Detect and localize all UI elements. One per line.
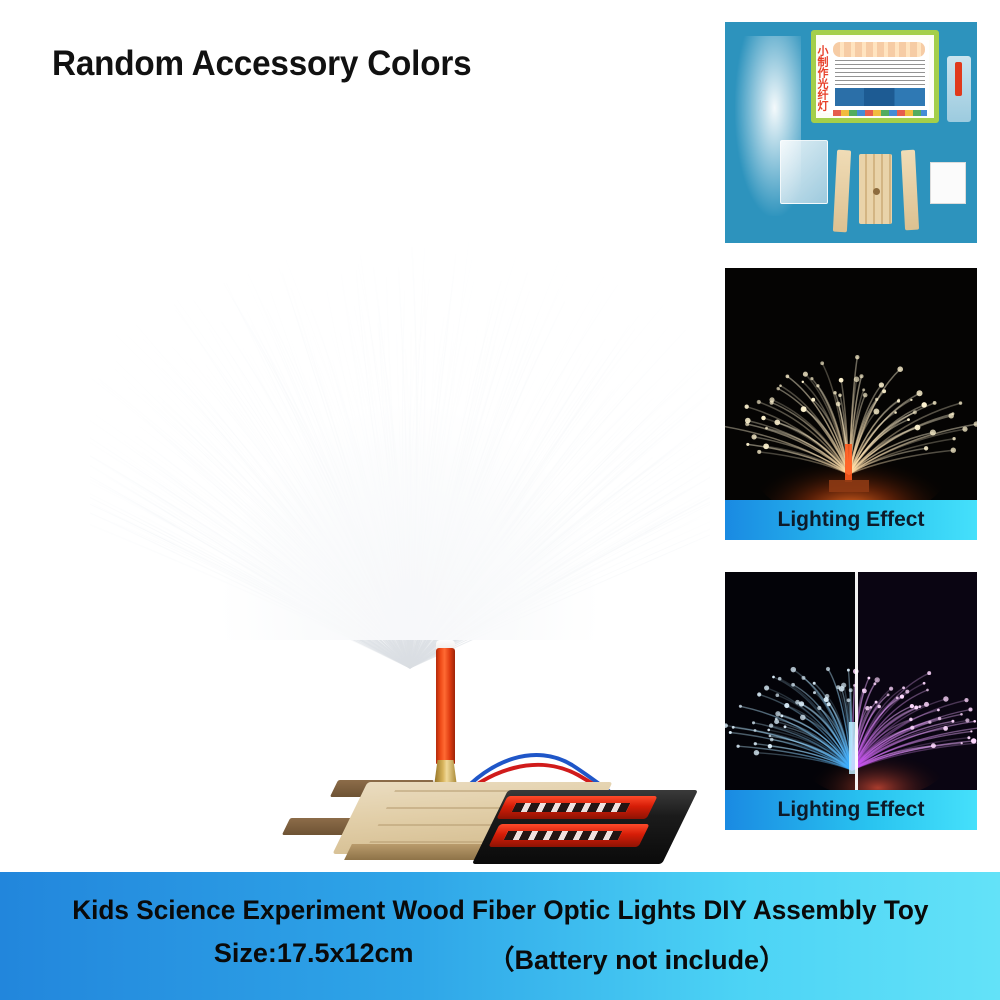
warm-lamp-illustration — [725, 268, 977, 500]
lamp-base-assembly — [290, 630, 710, 860]
main-product-photo — [90, 200, 710, 860]
instruction-step-photos — [835, 88, 925, 106]
color-swatch-strip — [833, 110, 927, 116]
parts-bag — [780, 140, 828, 204]
kit-parts-photo: 小制作光纤灯 — [725, 22, 977, 243]
fiber-strands-illustration — [90, 200, 710, 680]
fiber-optic-spray — [90, 200, 710, 680]
battery-cell — [496, 796, 657, 819]
sheet-title-cn: 小制作光纤灯 — [813, 42, 829, 114]
size-label: Size:17.5x12cm — [214, 938, 414, 977]
banner-subtitle: Size:17.5x12cm （Battery not include） — [214, 938, 786, 977]
banner-title: Kids Science Experiment Wood Fiber Optic… — [72, 895, 928, 926]
battery-note: （Battery not include） — [488, 938, 787, 977]
red-tube-part — [955, 62, 962, 96]
product-image-canvas: Random Accessory Colors — [0, 0, 1000, 1000]
paper-cards — [930, 162, 966, 204]
battery-cell — [488, 824, 649, 847]
page-title: Random Accessory Colors — [52, 44, 471, 84]
platform-hole — [873, 188, 880, 195]
caption-warm: Lighting Effect — [725, 500, 977, 540]
wood-slat-piece — [901, 150, 919, 231]
warm-lighting-photo — [725, 268, 977, 500]
color-lighting-photo — [725, 572, 977, 790]
image-split-line — [855, 572, 858, 790]
color-lamp-illustration — [725, 572, 977, 790]
bottom-banner: Kids Science Experiment Wood Fiber Optic… — [0, 872, 1000, 1000]
instruction-text-block — [835, 60, 925, 86]
wood-slat-piece — [833, 150, 851, 233]
cartoon-kids-graphic — [833, 42, 925, 57]
caption-cool: Lighting Effect — [725, 790, 977, 830]
